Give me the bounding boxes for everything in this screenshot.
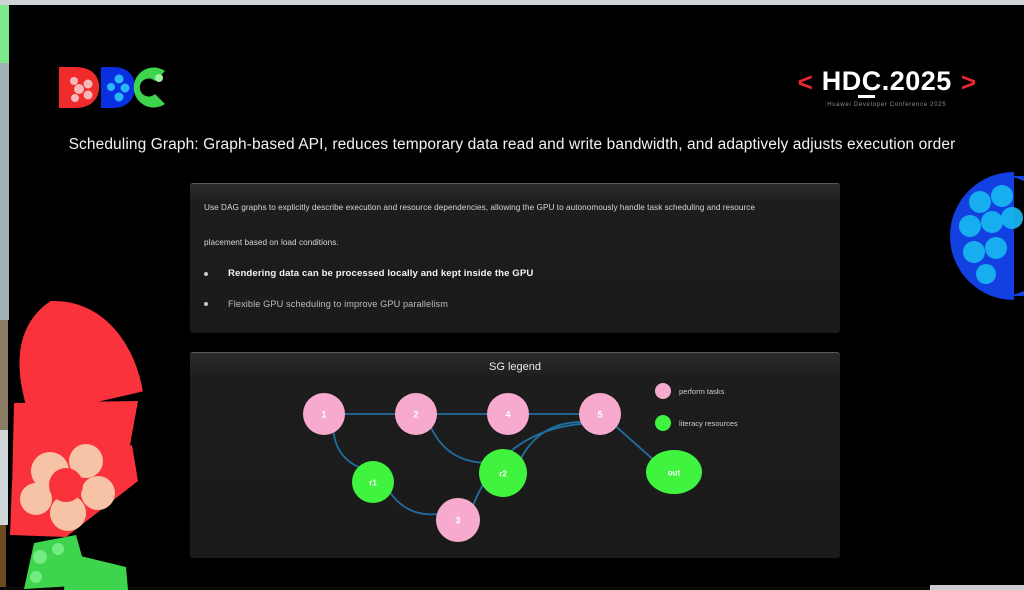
description-line-2: placement based on load conditions. <box>204 238 339 247</box>
graph-node-n2[interactable]: 2 <box>395 393 437 435</box>
slide-canvas: < HDC.2025 > Huawei Developer Conference… <box>0 0 1024 590</box>
page-title: Scheduling Graph: Graph-based API, reduc… <box>0 136 1024 154</box>
graph-node-n4[interactable]: 4 <box>487 393 529 435</box>
window-left-strip-brown <box>0 525 6 590</box>
graph-node-label: r1 <box>369 478 377 487</box>
graph-node-r2[interactable]: r2 <box>479 449 527 497</box>
hdc-title: HDC.2025 <box>822 68 952 95</box>
left-flower-decoration <box>6 285 146 590</box>
description-line-1: Use DAG graphs to explicitly describe ex… <box>204 203 755 212</box>
graph-node-label: 2 <box>413 409 418 419</box>
window-left-strip-green <box>0 5 9 63</box>
window-left-strip-tan <box>0 320 8 430</box>
hdc-right-chevron-icon: > <box>961 69 976 95</box>
window-bottom-right-strip <box>930 585 1024 590</box>
graph-node-label: 3 <box>455 515 460 525</box>
legend-swatch-task <box>655 383 671 399</box>
bullet-item-0: Rendering data can be processed locally … <box>204 268 533 279</box>
hdc-subtitle: Huawei Developer Conference 2025 <box>798 102 976 108</box>
window-left-strip-grey <box>0 63 9 320</box>
description-panel: Use DAG graphs to explicitly describe ex… <box>190 183 840 333</box>
legend-item-resources: literacy resources <box>655 415 738 431</box>
graph-node-n1[interactable]: 1 <box>303 393 345 435</box>
legend-swatch-resource <box>655 415 671 431</box>
bullet-item-1: Flexible GPU scheduling to improve GPU p… <box>204 299 448 309</box>
dag-graph: 1245r1r23out <box>190 353 840 559</box>
graph-node-label: 1 <box>321 409 326 419</box>
graph-node-n5[interactable]: 5 <box>579 393 621 435</box>
mdc-logo <box>55 65 170 110</box>
graph-node-group: 1245r1r23out <box>303 393 702 542</box>
graph-node-n3[interactable]: 3 <box>436 498 480 542</box>
window-top-strip <box>0 0 1024 5</box>
graph-node-out[interactable]: out <box>646 450 702 494</box>
legend-label: literacy resources <box>679 419 738 428</box>
graph-node-label: r2 <box>499 469 507 478</box>
window-left-strip-light <box>0 430 8 525</box>
bullet-dot-icon <box>204 302 208 306</box>
graph-node-label: 5 <box>597 409 602 419</box>
graph-node-r1[interactable]: r1 <box>352 461 394 503</box>
right-blue-decoration <box>944 172 1024 300</box>
legend-label: perform tasks <box>679 387 724 396</box>
scheduling-graph-panel: SG legend 1245r1r23out perform tasks lit… <box>190 352 840 558</box>
graph-node-label: 4 <box>505 409 510 419</box>
bullet-label: Rendering data can be processed locally … <box>228 268 533 279</box>
graph-node-label: out <box>668 468 681 477</box>
hdc-brand: < HDC.2025 > Huawei Developer Conference… <box>798 68 976 108</box>
legend-item-perform-tasks: perform tasks <box>655 383 724 399</box>
hdc-left-chevron-icon: < <box>798 69 813 95</box>
bullet-dot-icon <box>204 272 208 276</box>
bullet-label: Flexible GPU scheduling to improve GPU p… <box>228 299 448 309</box>
